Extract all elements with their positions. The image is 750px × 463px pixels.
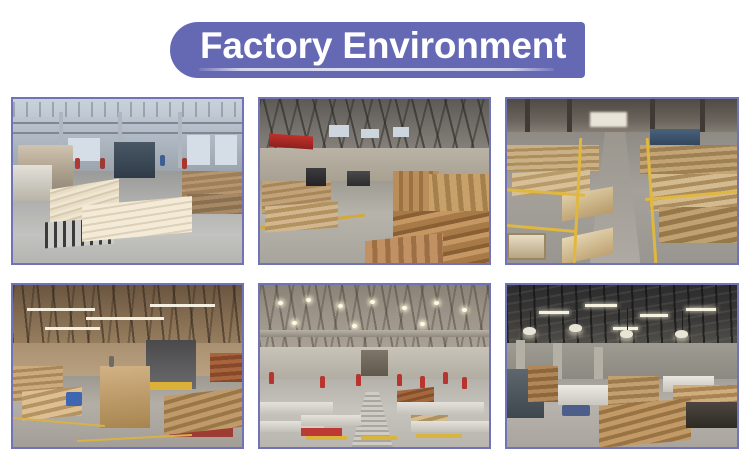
gallery-photo-4[interactable] bbox=[11, 283, 244, 449]
photo-2-scene bbox=[260, 99, 489, 263]
wood-panel-left bbox=[528, 366, 558, 402]
title-banner: Factory Environment bbox=[170, 22, 585, 78]
press-yellow-guard bbox=[150, 382, 191, 390]
wood-row-right-3 bbox=[659, 207, 737, 243]
pendant-lamp bbox=[620, 330, 633, 338]
dark-machine-right bbox=[686, 402, 737, 428]
wood-row-right bbox=[640, 145, 737, 175]
pendant-lamp bbox=[675, 330, 688, 338]
factory-photo-gallery bbox=[11, 97, 739, 449]
ceiling-duct bbox=[260, 330, 489, 336]
wood-stack-right-2 bbox=[187, 194, 242, 214]
wood-row-left bbox=[507, 145, 599, 171]
roof-trusses bbox=[13, 102, 242, 117]
far-end-of-hall bbox=[361, 350, 388, 376]
large-upright-panel bbox=[100, 366, 150, 428]
red-brown-stack bbox=[210, 353, 242, 382]
title-underline bbox=[199, 68, 554, 71]
gallery-photo-2[interactable] bbox=[258, 97, 491, 265]
machine-left-lower bbox=[13, 165, 52, 201]
roof-trusses bbox=[260, 285, 489, 350]
pendant-lamp bbox=[523, 327, 536, 335]
page-title: Factory Environment bbox=[200, 24, 566, 68]
gallery-photo-1[interactable] bbox=[11, 97, 244, 265]
photo-3-scene bbox=[507, 99, 737, 263]
blue-cart bbox=[562, 405, 590, 416]
gallery-photo-6[interactable] bbox=[505, 283, 739, 449]
page-header: Factory Environment bbox=[0, 0, 750, 90]
white-goods-stack bbox=[558, 385, 613, 404]
gallery-photo-3[interactable] bbox=[505, 97, 739, 265]
board-stack-right bbox=[164, 388, 242, 435]
blue-drum bbox=[66, 392, 82, 407]
photo-1-scene bbox=[13, 99, 242, 263]
wood-stack-left-2 bbox=[265, 201, 338, 232]
photo-6-scene bbox=[507, 285, 737, 447]
photo-5-scene bbox=[260, 285, 489, 447]
photo-4-scene bbox=[13, 285, 242, 447]
pendant-lamp bbox=[569, 324, 582, 332]
crate-bottom-left bbox=[507, 233, 546, 259]
gallery-photo-5[interactable] bbox=[258, 283, 491, 449]
board-stack-foreground bbox=[599, 398, 691, 447]
far-doorway-light bbox=[590, 112, 627, 127]
machine-center bbox=[114, 142, 155, 178]
